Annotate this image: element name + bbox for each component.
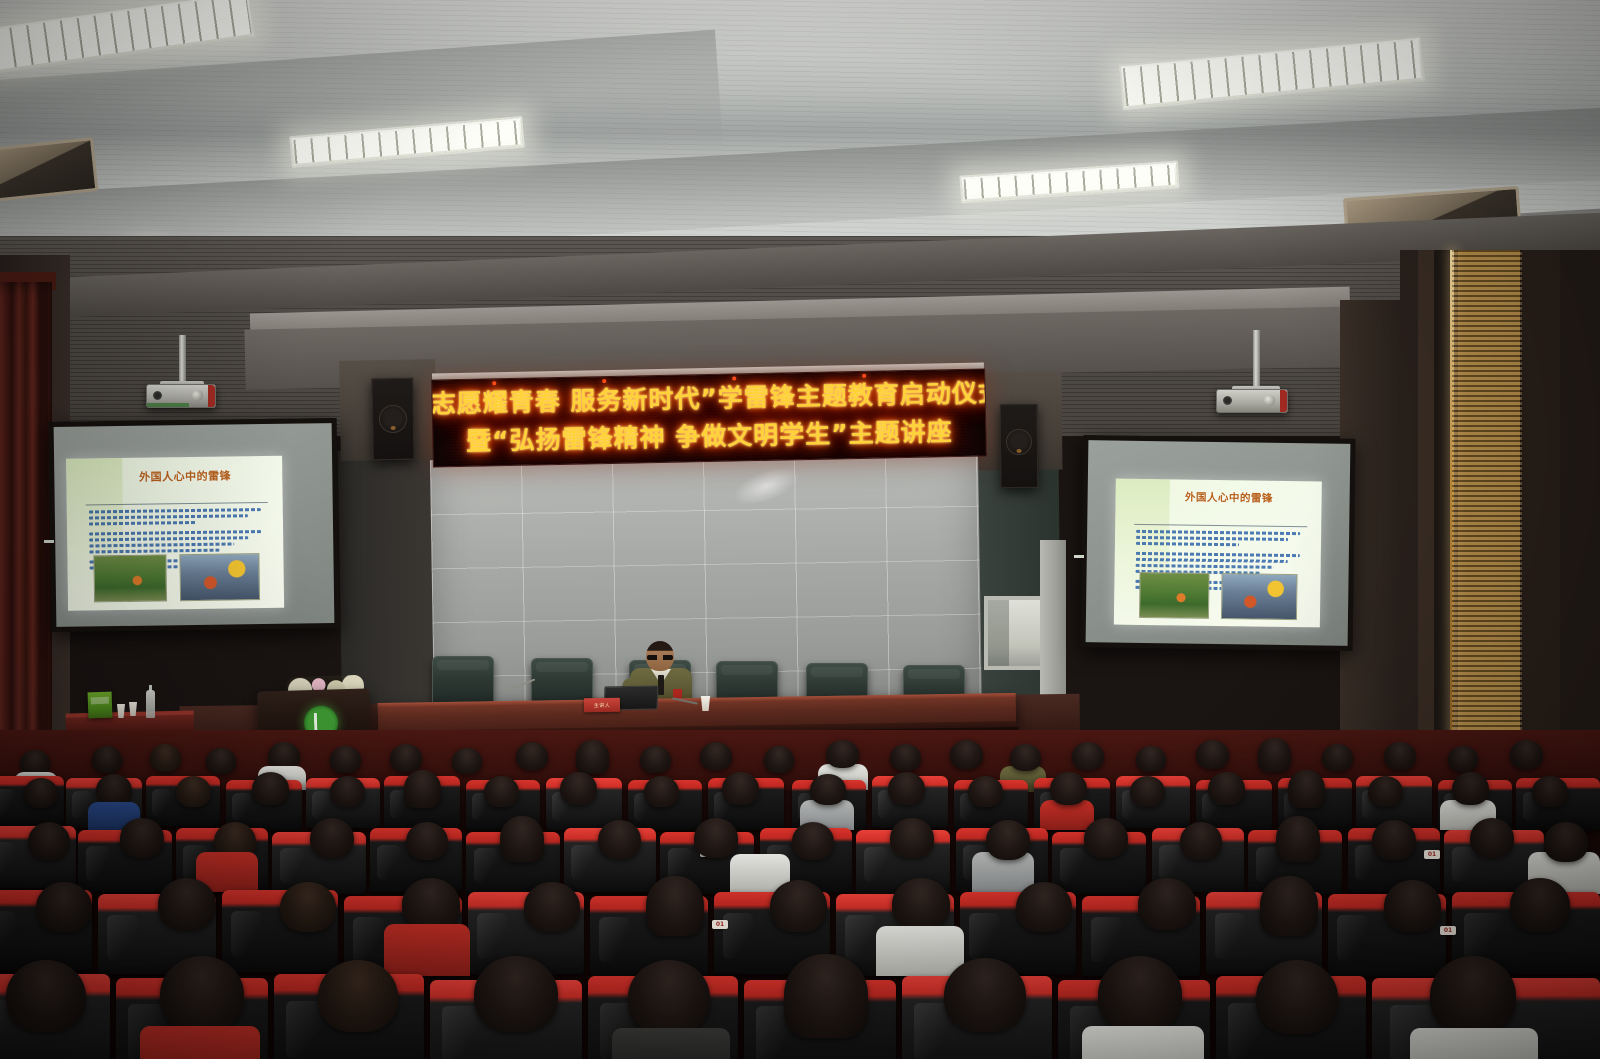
audience-head [120, 818, 164, 858]
audience-head [92, 746, 122, 773]
audience-shirt [1410, 1028, 1538, 1059]
audience-head [1368, 776, 1403, 807]
audience-head [1452, 772, 1489, 805]
audience-head [1084, 818, 1128, 858]
right-side-wall [1400, 250, 1600, 790]
audience-head [646, 876, 704, 936]
audience-head [792, 822, 834, 860]
audience-head [784, 954, 868, 1038]
audience-head [1180, 822, 1222, 860]
led-indicator-dot [862, 374, 866, 378]
seat-number-tag: 01 [1440, 926, 1456, 935]
audience-head [1258, 738, 1291, 772]
audience-head [628, 960, 710, 1034]
audience-head [500, 816, 544, 862]
audience-head [1372, 820, 1416, 860]
audience-head [1050, 772, 1087, 805]
audience-head [598, 820, 641, 859]
projector-left [146, 384, 216, 408]
slide-content: 外国人心中的雷锋 [1114, 479, 1322, 628]
slide-photo-left [1139, 572, 1210, 619]
audience-head [888, 772, 925, 805]
audience-head [280, 882, 336, 932]
projector-knob-icon [192, 390, 203, 401]
audience-head [826, 740, 859, 768]
audience-head [1510, 740, 1543, 769]
audience-head [700, 742, 732, 770]
audience-head [474, 956, 558, 1032]
audience-head [176, 776, 211, 807]
audience-head [560, 772, 597, 805]
audience-head [1384, 742, 1416, 770]
audience-head [968, 776, 1003, 807]
audience-head [1130, 776, 1165, 807]
audience-head [576, 740, 609, 774]
audience-head [1196, 740, 1229, 769]
audience-head [950, 740, 983, 769]
audience-head [206, 748, 236, 774]
speaker-tie [658, 675, 664, 695]
audience-head [452, 748, 482, 774]
green-box [88, 692, 113, 719]
audience-head [764, 746, 794, 773]
audience-head [330, 776, 365, 807]
audience-head [1288, 770, 1325, 808]
speaker-left [371, 378, 414, 461]
projection-screen-right: 外国人心中的雷锋 [1081, 435, 1356, 651]
slide-photo-right [1221, 573, 1298, 620]
audience-head [1544, 822, 1588, 862]
audience-head [986, 820, 1030, 860]
audience-head [1072, 742, 1104, 770]
audience-head [484, 776, 519, 807]
audience-head [390, 744, 422, 772]
speaker-led-icon [1017, 449, 1022, 453]
led-indicator-dot [732, 376, 736, 380]
audience-head [644, 776, 679, 807]
audience-head [890, 818, 934, 858]
led-indicator-dot [602, 379, 606, 383]
audience-shirt [612, 1028, 730, 1059]
projection-screen-left: 外国人心中的雷锋 [49, 418, 340, 632]
audience-head [1098, 956, 1182, 1032]
seat-number-tag: 01 [712, 920, 728, 929]
audience-head [1260, 876, 1318, 936]
audience-head [402, 878, 460, 930]
audience-head [318, 960, 398, 1032]
slide-photo-left [93, 554, 167, 603]
audience-head [310, 818, 354, 858]
audience-head [28, 822, 70, 860]
audience-head [694, 818, 738, 858]
audience-head [640, 746, 671, 773]
audience-head [1384, 880, 1441, 932]
audience-head [1010, 744, 1041, 771]
audience-head [770, 880, 827, 932]
audience-head [1510, 878, 1570, 932]
projector-mount-pole [1253, 330, 1260, 388]
screen-surface: 外国人心中的雷锋 [54, 423, 335, 627]
audience-shirt [384, 924, 470, 976]
audience-shirt [876, 926, 964, 976]
audience-head [1016, 882, 1072, 932]
audience-head [516, 742, 548, 770]
audience-head [1276, 816, 1320, 862]
projector-lens-icon [153, 391, 162, 400]
screen-side-tab [1074, 555, 1084, 558]
audience-head [24, 778, 58, 808]
projector-stripe [208, 385, 215, 407]
stage-tiled-backdrop [430, 452, 982, 723]
audience-seating: 01 01 01 [0, 730, 1600, 1059]
auditorium-photo: “志愿耀青春 服务新时代”学雷锋主题教育启动仪式 暨“弘扬雷锋精神 争做文明学生… [0, 0, 1600, 1059]
audience-head [252, 772, 289, 805]
audience-head [1448, 746, 1478, 772]
slide-photo-right [180, 553, 260, 602]
projector-stripe [147, 403, 189, 407]
water-bottle [146, 690, 155, 718]
audience-head [150, 744, 181, 772]
audience-head [944, 958, 1026, 1032]
name-plate-text: 主讲人 [594, 701, 611, 708]
audience-head [6, 960, 86, 1032]
slide-title: 外国人心中的雷锋 [96, 467, 273, 485]
audience-head [1208, 772, 1245, 805]
stage-chair [432, 656, 494, 708]
audience-head [1136, 746, 1166, 772]
glasses-icon [647, 655, 673, 660]
slide-content: 外国人心中的雷锋 [66, 456, 284, 611]
tile-grid [430, 452, 982, 723]
projector-knob-icon [1264, 395, 1275, 406]
audience-head [524, 882, 580, 932]
left-curtain [0, 282, 52, 782]
wall-alcove [984, 596, 1044, 670]
audience-head [1430, 956, 1516, 1034]
audience-head [722, 772, 759, 805]
projector-mount-pole [179, 335, 186, 383]
seat-number-tag: 01 [1424, 850, 1440, 859]
speaker-right [1000, 404, 1039, 488]
audience-shirt [140, 1026, 260, 1059]
screen-surface: 外国人心中的雷锋 [1086, 440, 1351, 646]
audience-head [810, 774, 846, 805]
projector-lens-icon [1223, 396, 1232, 405]
audience-head [892, 878, 950, 930]
audience-head [406, 822, 448, 860]
audience-head [36, 882, 92, 932]
audience-head [1532, 776, 1568, 807]
screen-side-tab [44, 540, 54, 543]
name-plate: 主讲人 [584, 698, 620, 713]
audience-head [1256, 960, 1338, 1034]
led-indicator-dot [492, 381, 496, 385]
audience-head [1138, 878, 1196, 930]
wood-slat-texture [1452, 250, 1522, 790]
projector-right [1216, 389, 1288, 413]
audience-shirt [1082, 1026, 1204, 1059]
audience-head [158, 878, 216, 930]
audience-head [160, 956, 244, 1032]
projector-stripe [1280, 390, 1287, 412]
led-scrolling-banner: “志愿耀青春 服务新时代”学雷锋主题教育启动仪式 暨“弘扬雷锋精神 争做文明学生… [431, 368, 987, 467]
audience-head [330, 746, 361, 773]
audience-head [1470, 818, 1514, 858]
audience-head [1322, 744, 1353, 771]
slide-title: 外国人心中的雷锋 [1144, 489, 1313, 506]
audience-head [404, 770, 441, 808]
audience-head [890, 744, 921, 771]
